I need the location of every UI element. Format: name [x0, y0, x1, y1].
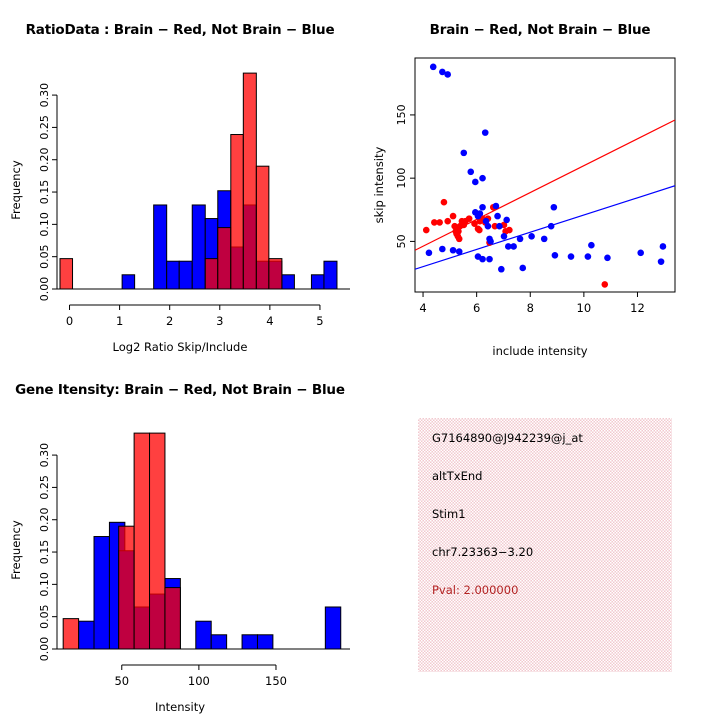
scatter-point [456, 248, 463, 255]
scatter-x-tick-label: 10 [577, 301, 592, 315]
scatter-point [503, 217, 510, 224]
scatter-point [441, 199, 448, 206]
scatter-x-tick-label: 4 [419, 301, 426, 315]
scatter-point [485, 223, 492, 230]
scatter-point [426, 249, 433, 256]
gene-hist-bar [150, 433, 165, 649]
scatter-point [472, 209, 479, 216]
scatter-point [585, 253, 592, 260]
scatter-point [501, 233, 508, 240]
scatter-point [482, 129, 489, 136]
gene-hist-bar [134, 433, 149, 649]
panel-scatter: Brain − Red, Not Brain − Blue skip inten… [360, 0, 720, 360]
ratio-hist-x-tick-label: 4 [266, 314, 273, 328]
ratio-hist-bar [269, 259, 282, 289]
scatter-point [658, 258, 665, 265]
scatter-point [660, 243, 667, 250]
scatter-point [494, 213, 501, 220]
scatter-point [498, 266, 505, 273]
ratio-hist-bar [256, 166, 269, 289]
ratio-hist-bar [218, 228, 231, 289]
scatter-point [568, 253, 575, 260]
gene-hist-y-tick-label: 0.10 [38, 572, 51, 597]
ratio-hist-canvas: 0.000.050.100.150.200.250.30012345 [0, 0, 360, 360]
scatter-point [496, 223, 503, 230]
ratio-hist-bar [179, 261, 192, 289]
ratio-hist-bar [205, 259, 218, 289]
scatter-point [601, 281, 608, 288]
scatter-point [436, 219, 443, 226]
info-line-pval: Pval: 2.000000 [432, 583, 518, 597]
scatter-x-tick-label: 6 [473, 301, 480, 315]
gene-hist-bar [94, 537, 109, 649]
ratio-hist-bar [192, 205, 205, 289]
scatter-point [541, 236, 548, 243]
scatter-point [519, 265, 526, 272]
scatter-point [637, 249, 644, 256]
scatter-point [548, 223, 555, 230]
ratio-hist-bar [122, 275, 135, 289]
ratio-hist-bar [324, 261, 337, 289]
gene-hist-x-tick-label: 150 [265, 674, 287, 688]
scatter-point [472, 179, 479, 186]
scatter-point [460, 150, 467, 157]
scatter-point [551, 204, 558, 211]
ratio-hist-x-tick-label: 0 [66, 314, 73, 328]
ratio-hist-y-tick-label: 0.20 [38, 147, 51, 172]
scatter-point [486, 256, 493, 263]
scatter-point [456, 236, 463, 243]
gene-hist-y-tick-label: 0.05 [38, 604, 51, 629]
gene-hist-y-tick-label: 0.25 [38, 475, 51, 500]
scatter-point [467, 169, 474, 176]
gene-hist-bar [196, 621, 211, 649]
panel-info: G7164890@J942239@j_at altTxEnd Stim1 chr… [360, 360, 720, 720]
info-line-locus: chr7.23363−3.20 [432, 545, 533, 559]
gene-hist-y-tick-label: 0.00 [38, 637, 51, 662]
scatter-point [487, 238, 494, 245]
scatter-point [444, 71, 451, 78]
scatter-y-tick-label: 100 [395, 168, 408, 189]
ratio-hist-bar [282, 275, 295, 289]
gene-hist-bar [242, 635, 257, 649]
gene-hist-bar [119, 526, 134, 649]
gene-hist-bar [165, 588, 180, 649]
scatter-point [450, 213, 457, 220]
ratio-hist-bar [231, 135, 244, 289]
ratio-hist-bar [154, 205, 167, 289]
gene-hist-bar [325, 607, 340, 649]
scatter-point [493, 203, 500, 210]
scatter-point [588, 242, 595, 249]
scatter-point [510, 243, 517, 250]
panel-gene-histogram: Gene Itensity: Brain − Red, Not Brain − … [0, 360, 360, 720]
ratio-hist-bar [60, 259, 73, 289]
scatter-point [479, 175, 486, 182]
scatter-point [479, 256, 486, 263]
gene-hist-y-tick-label: 0.20 [38, 507, 51, 531]
scatter-point [517, 236, 524, 243]
panel-ratio-histogram: RatioData : Brain − Red, Not Brain − Blu… [0, 0, 360, 360]
scatter-point [476, 227, 483, 234]
scatter-point [466, 215, 473, 222]
scatter-canvas: 501001504681012 [360, 0, 720, 360]
scatter-point [528, 233, 535, 240]
scatter-point [423, 227, 430, 234]
scatter-point [479, 204, 486, 211]
ratio-hist-y-tick-label: 0.30 [38, 83, 51, 108]
gene-hist-bar [257, 635, 272, 649]
info-line-probe: G7164890@J942239@j_at [432, 431, 583, 445]
scatter-data-group [415, 64, 675, 288]
scatter-point [439, 246, 446, 253]
gene-hist-bar [79, 621, 94, 649]
ratio-hist-bar [243, 73, 256, 289]
ratio-hist-bar [311, 275, 324, 289]
ratio-hist-y-tick-label: 0.05 [38, 244, 51, 269]
scatter-y-tick-label: 50 [395, 234, 408, 248]
ratio-hist-x-tick-label: 3 [216, 314, 223, 328]
scatter-x-tick-label: 12 [630, 301, 645, 315]
info-line-gene: Stim1 [432, 507, 466, 521]
gene-hist-x-tick-label: 100 [188, 674, 210, 688]
ratio-hist-y-tick-label: 0.25 [38, 115, 51, 139]
info-line-event-type: altTxEnd [432, 469, 482, 483]
ratio-hist-y-tick-label: 0.10 [38, 212, 51, 237]
scatter-point [430, 64, 437, 71]
gene-hist-x-tick-label: 50 [114, 674, 129, 688]
gene-hist-y-tick-label: 0.15 [38, 540, 51, 565]
scatter-x-tick-label: 8 [527, 301, 534, 315]
ratio-hist-x-tick-label: 1 [116, 314, 123, 328]
gene-hist-bar [211, 635, 226, 649]
scatter-point [604, 255, 611, 262]
scatter-y-tick-label: 150 [395, 104, 408, 125]
ratio-hist-y-tick-label: 0.15 [38, 180, 51, 205]
ratio-hist-x-tick-label: 2 [166, 314, 173, 328]
ratio-hist-y-tick-label: 0.00 [38, 277, 51, 302]
gene-hist-canvas: 0.000.050.100.150.200.250.3050100150 [0, 360, 360, 720]
scatter-point [450, 247, 457, 254]
gene-hist-y-tick-label: 0.30 [38, 443, 51, 468]
ratio-hist-x-tick-label: 5 [316, 314, 323, 328]
gene-hist-bar [63, 619, 78, 649]
scatter-point [552, 252, 559, 259]
scatter-point [444, 218, 451, 225]
ratio-hist-bar [167, 261, 180, 289]
